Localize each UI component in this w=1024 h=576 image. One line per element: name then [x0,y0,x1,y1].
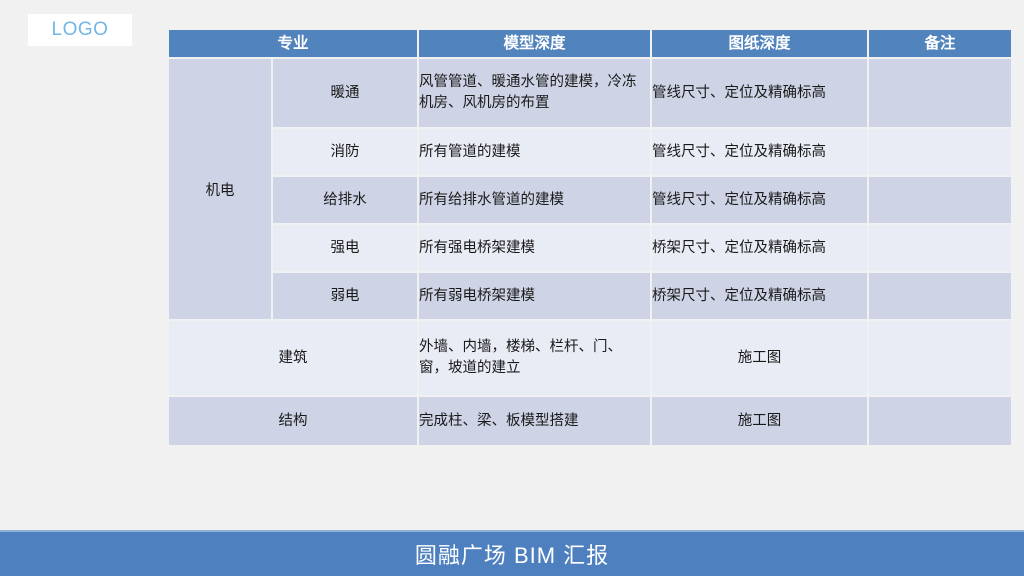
drawing-depth-cell: 管线尺寸、定位及精确标高 [652,177,867,223]
spec-table-container: 专业 模型深度 图纸深度 备注 机电 暖通 风管管道、暖通水管的建模，冷冻机房、… [167,28,1005,447]
drawing-depth-cell: 管线尺寸、定位及精确标高 [652,129,867,175]
discipline-cell: 弱电 [273,273,417,319]
remark-cell [869,397,1011,445]
drawing-depth-cell: 桥架尺寸、定位及精确标高 [652,273,867,319]
remark-cell [869,177,1011,223]
drawing-depth-cell: 管线尺寸、定位及精确标高 [652,59,867,127]
remark-cell [869,273,1011,319]
discipline-cell: 建筑 [169,321,417,395]
table-row: 结构 完成柱、梁、板模型搭建 施工图 [169,397,1011,445]
model-depth-cell: 所有强电桥架建模 [419,225,650,271]
column-header-discipline: 专业 [169,30,417,57]
group-cell-mechanical: 机电 [169,59,271,319]
model-depth-cell: 外墙、内墙，楼梯、栏杆、门、窗，坡道的建立 [419,321,650,395]
model-depth-cell: 风管管道、暖通水管的建模，冷冻机房、风机房的布置 [419,59,650,127]
table-row: 机电 暖通 风管管道、暖通水管的建模，冷冻机房、风机房的布置 管线尺寸、定位及精… [169,59,1011,127]
model-depth-cell: 所有弱电桥架建模 [419,273,650,319]
logo-placeholder: LOGO [28,14,132,46]
drawing-depth-cell: 桥架尺寸、定位及精确标高 [652,225,867,271]
drawing-depth-cell: 施工图 [652,321,867,395]
footer-bar: 圆融广场 BIM 汇报 [0,530,1024,576]
table-row: 强电 所有强电桥架建模 桥架尺寸、定位及精确标高 [169,225,1011,271]
table-row: 建筑 外墙、内墙，楼梯、栏杆、门、窗，坡道的建立 施工图 [169,321,1011,395]
column-header-drawing-depth: 图纸深度 [652,30,867,57]
presentation-title: 圆融广场 BIM 汇报 [415,538,609,570]
remark-cell [869,129,1011,175]
discipline-cell: 给排水 [273,177,417,223]
remark-cell [869,321,1011,395]
table-header-row: 专业 模型深度 图纸深度 备注 [169,30,1011,57]
remark-cell [869,59,1011,127]
table-row: 给排水 所有给排水管道的建模 管线尺寸、定位及精确标高 [169,177,1011,223]
discipline-cell: 消防 [273,129,417,175]
column-header-remark: 备注 [869,30,1011,57]
model-depth-cell: 所有管道的建模 [419,129,650,175]
table-row: 消防 所有管道的建模 管线尺寸、定位及精确标高 [169,129,1011,175]
discipline-cell: 结构 [169,397,417,445]
model-depth-cell: 完成柱、梁、板模型搭建 [419,397,650,445]
column-header-model-depth: 模型深度 [419,30,650,57]
discipline-cell: 强电 [273,225,417,271]
table-row: 弱电 所有弱电桥架建模 桥架尺寸、定位及精确标高 [169,273,1011,319]
remark-cell [869,225,1011,271]
drawing-depth-cell: 施工图 [652,397,867,445]
model-depth-cell: 所有给排水管道的建模 [419,177,650,223]
logo-text: LOGO [52,19,109,41]
discipline-cell: 暖通 [273,59,417,127]
bim-depth-table: 专业 模型深度 图纸深度 备注 机电 暖通 风管管道、暖通水管的建模，冷冻机房、… [167,28,1013,447]
